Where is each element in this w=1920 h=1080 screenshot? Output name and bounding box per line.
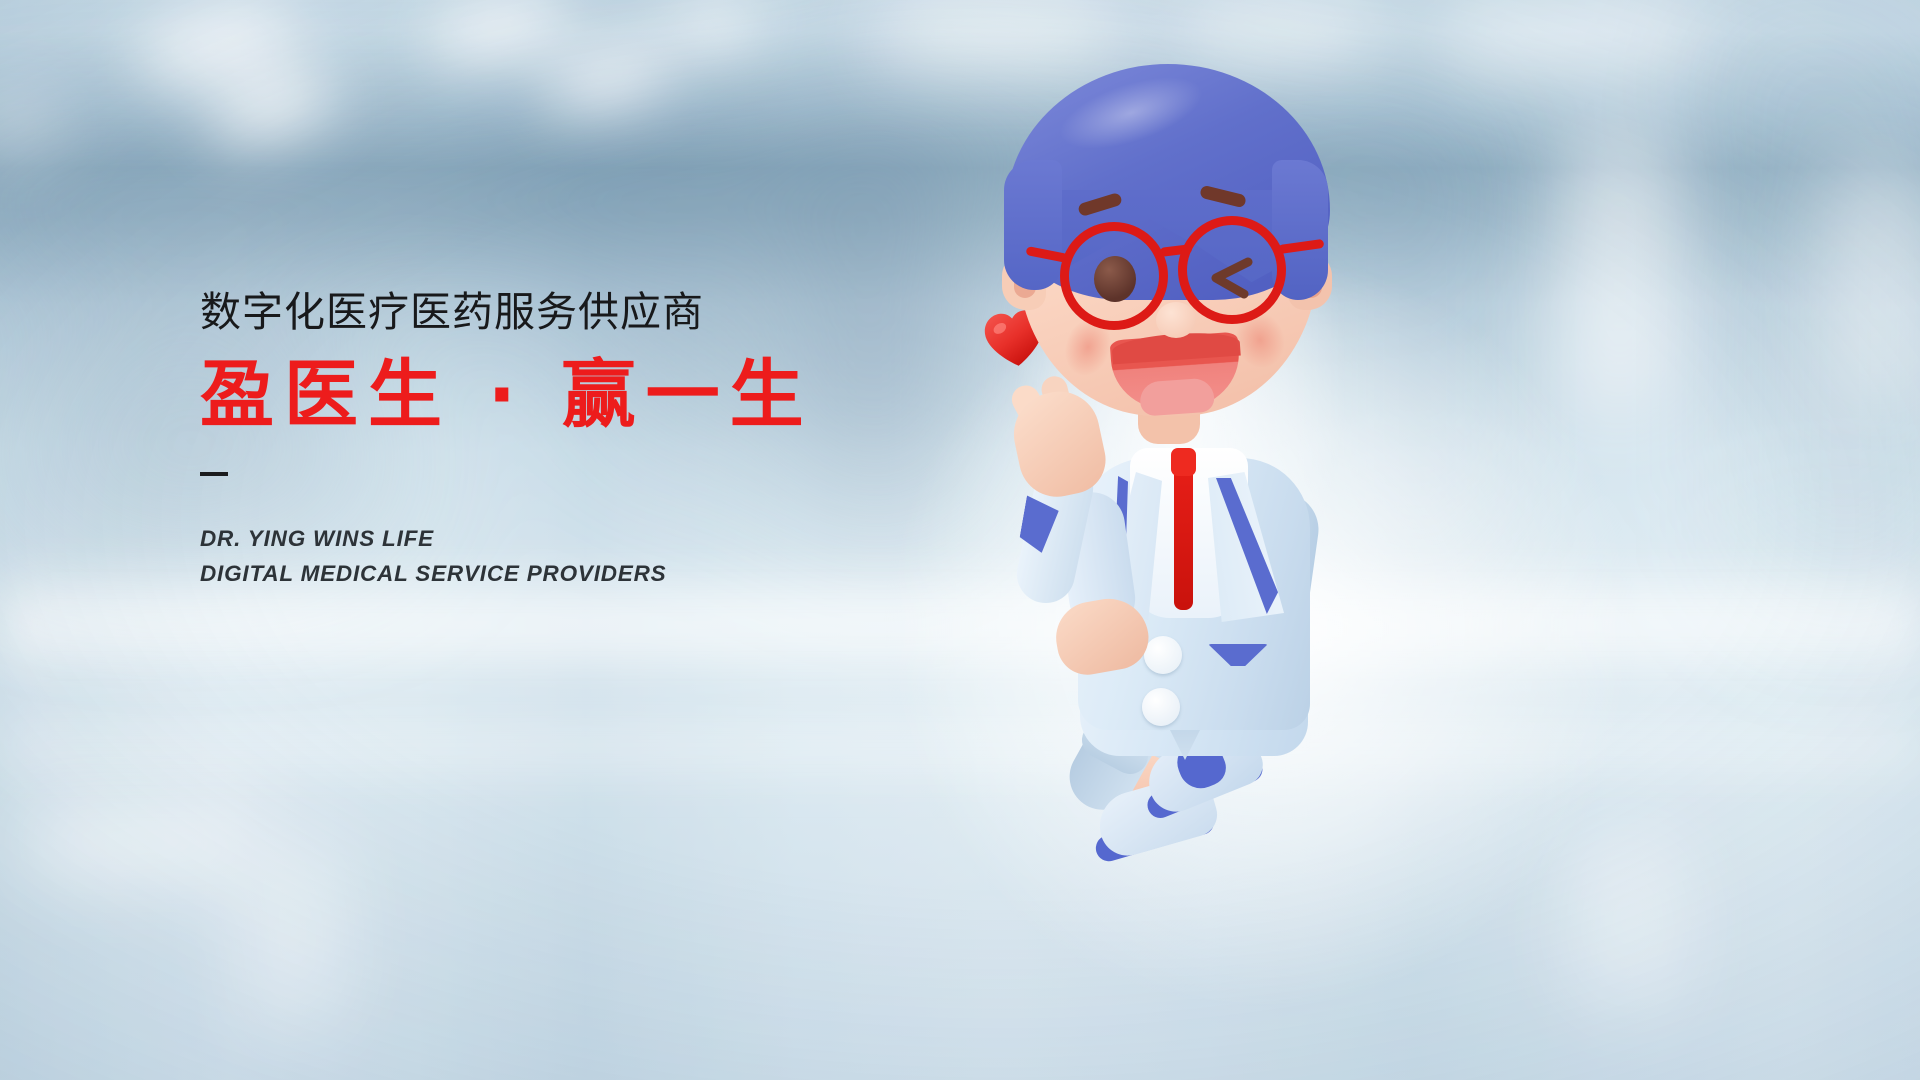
hero-headline-chinese: 数字化医疗医药服务供应商 — [200, 292, 814, 333]
mascot-coat-button-bottom — [1142, 688, 1180, 726]
mascot-tongue — [1139, 377, 1215, 416]
hero-divider-rule — [200, 472, 228, 476]
hero-slogan-chinese: 盈医生 · 赢一生 — [200, 358, 814, 432]
hero-english-block: DR. YING WINS LIFE DIGITAL MEDICAL SERVI… — [200, 521, 814, 591]
hero-copy-block: 数字化医疗医药服务供应商 盈医生 · 赢一生 DR. YING WINS LIF… — [200, 292, 814, 591]
mascot-tie-knot — [1171, 448, 1196, 476]
mascot-glasses-lens-right — [1178, 216, 1286, 324]
mascot-glasses-lens-left — [1060, 222, 1168, 330]
hero-english-line-2: DIGITAL MEDICAL SERVICE PROVIDERS — [200, 556, 814, 591]
mascot-tie — [1174, 458, 1193, 610]
hero-banner: 数字化医疗医药服务供应商 盈医生 · 赢一生 DR. YING WINS LIF… — [0, 0, 1920, 1080]
mascot-doctor-character — [960, 40, 1380, 860]
hero-english-line-1: DR. YING WINS LIFE — [200, 521, 814, 556]
mascot-hair-side-left — [1004, 160, 1062, 290]
mascot-nose — [1156, 302, 1196, 338]
mascot-coat-button-top — [1144, 636, 1182, 674]
